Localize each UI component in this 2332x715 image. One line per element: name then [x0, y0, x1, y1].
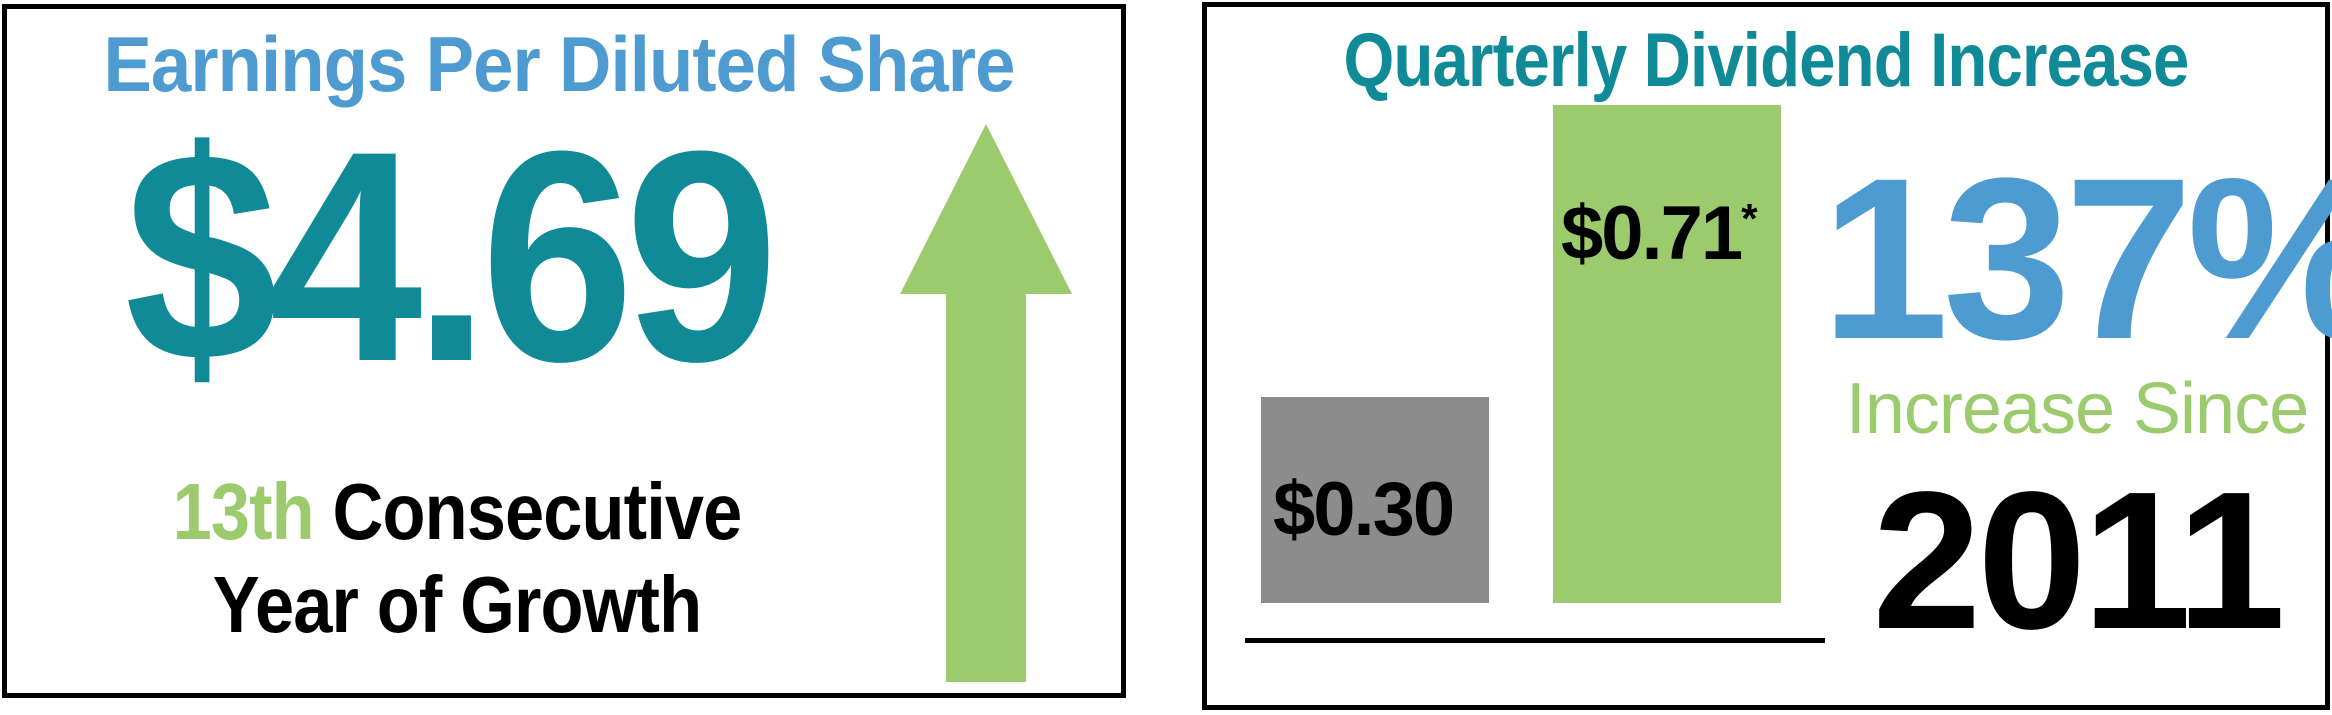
dividend-increase-since-label: Increase Since: [1821, 371, 2332, 447]
bar-label-current: 0.71$0.71*: [1561, 181, 1758, 272]
growth-caption-line-1: 13th Consecutive: [79, 464, 836, 560]
footnote-asterisk: *: [1741, 195, 1757, 242]
dividend-panel-title: Quarterly Dividend Increase: [1297, 17, 2234, 105]
growth-ordinal: 13th: [173, 467, 314, 556]
growth-caption-line-2: Year of Growth: [79, 557, 836, 653]
dividend-increase-percent: 137%: [1821, 155, 2332, 363]
dividend-bar-chart: $0.30 0.71$0.71* 137% Increase Since 201…: [1221, 103, 2317, 703]
bar-current-dividend: [1553, 105, 1781, 603]
bar-label-prior: $0.30: [1273, 472, 1453, 548]
infographic-canvas: Earnings Per Diluted Share $4.69 13th Co…: [0, 0, 2332, 715]
dividend-increase-since-year: 2011: [1821, 461, 2332, 661]
chart-baseline-axis: [1245, 638, 1825, 643]
quarterly-dividend-panel: Quarterly Dividend Increase $0.30 0.71$0…: [1202, 2, 2330, 710]
earnings-per-share-panel: Earnings Per Diluted Share $4.69 13th Co…: [2, 4, 1126, 698]
eps-value: $4.69: [51, 91, 842, 421]
arrow-up-icon: [900, 124, 1072, 682]
growth-consecutive-word: Consecutive: [314, 467, 742, 556]
bar-label-current-text: $0.71: [1561, 191, 1741, 276]
